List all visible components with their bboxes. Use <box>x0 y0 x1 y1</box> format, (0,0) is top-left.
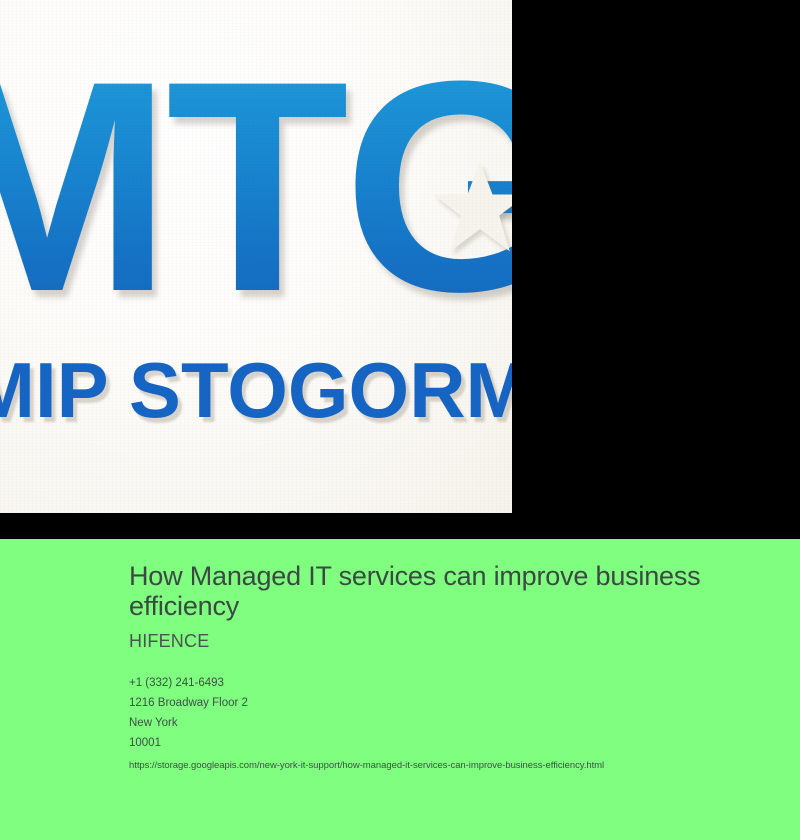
contact-phone[interactable]: +1 (332) 241-6493 <box>129 673 749 693</box>
hero-band: MTG MIP STOGORM <box>0 0 800 539</box>
logo-tagline: MIP STOGORM <box>0 348 512 432</box>
info-content: How Managed IT services can improve busi… <box>129 561 749 773</box>
brand-name: HIFENCE <box>129 630 749 652</box>
star-icon <box>432 160 512 256</box>
contact-postal-code: 10001 <box>129 733 749 753</box>
logo-image: MTG MIP STOGORM <box>0 0 512 513</box>
source-url-link[interactable]: https://storage.googleapis.com/new-york-… <box>129 759 749 773</box>
contact-street: 1216 Broadway Floor 2 <box>129 693 749 713</box>
contact-block: +1 (332) 241-6493 1216 Broadway Floor 2 … <box>129 673 749 753</box>
page-root: MTG MIP STOGORM How Managed IT services … <box>0 0 800 840</box>
contact-city: New York <box>129 713 749 733</box>
page-title: How Managed IT services can improve busi… <box>129 561 709 621</box>
info-card: How Managed IT services can improve busi… <box>0 539 800 840</box>
